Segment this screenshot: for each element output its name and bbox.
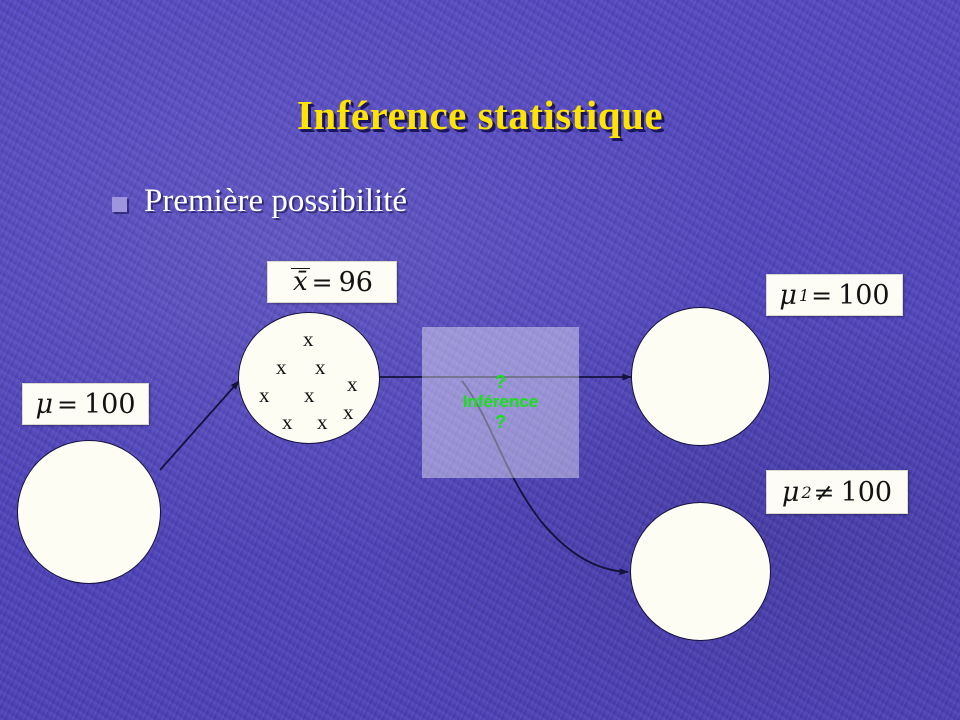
slide-canvas: Inférence statistique Première possibili… [0, 0, 960, 720]
population-mean-box: μ = 100 [22, 383, 149, 425]
population-circle [17, 440, 161, 584]
sample-point-x: x [276, 357, 287, 378]
sample-point-x: x [343, 402, 354, 423]
bullet-list-item: Première possibilité [112, 182, 407, 220]
sample-mean-box: x̄ = 96 [267, 261, 397, 303]
hypothesis-1-circle [631, 307, 770, 446]
hypothesis-2-box: μ2 ≠ 100 [766, 470, 908, 514]
inference-label: ? Inférence ? [422, 372, 579, 432]
not-equals-operator: ≠ [812, 478, 841, 507]
mu-symbol: μ [35, 389, 55, 420]
mu-subscript: 1 [799, 286, 809, 305]
sample-point-x: x [303, 329, 314, 350]
hypothesis-2-value: 100 [841, 477, 893, 508]
mu-symbol: μ [779, 280, 799, 311]
mu-subscript: 2 [801, 483, 811, 502]
inference-question-bottom: ? [422, 412, 579, 432]
bullet-item-label: Première possibilité [144, 182, 407, 220]
hypothesis-1-value: 100 [838, 280, 890, 311]
hypothesis-2-circle [630, 502, 771, 641]
inference-text: Inférence [463, 392, 539, 411]
equals-operator: = [310, 268, 339, 297]
equals-operator: = [55, 390, 84, 419]
equals-operator: = [809, 281, 838, 310]
sampling-arrow [160, 381, 239, 470]
x-bar-symbol: x̄ [291, 268, 310, 296]
population-mean-value: 100 [84, 389, 136, 420]
sample-mean-value: 96 [339, 267, 373, 298]
sample-point-x: x [347, 374, 358, 395]
sample-point-x: x [317, 412, 328, 433]
sample-point-x: x [282, 412, 293, 433]
sample-point-x: x [259, 385, 270, 406]
sample-point-x: x [304, 385, 315, 406]
page-title: Inférence statistique [0, 92, 960, 138]
hypothesis-1-box: μ1 = 100 [766, 274, 903, 316]
mu-symbol: μ [782, 477, 802, 508]
sample-point-x: x [315, 357, 326, 378]
sample-circle: x x x x x x x x x [238, 312, 380, 444]
inference-question-top: ? [422, 372, 579, 392]
square-bullet-icon [112, 197, 127, 212]
